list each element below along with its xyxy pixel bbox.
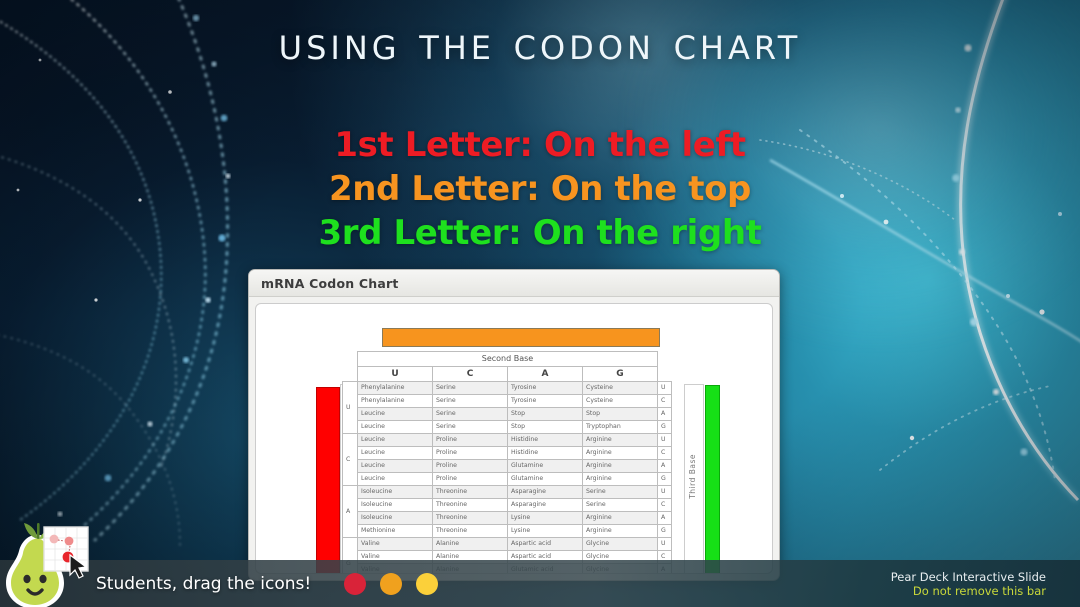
amino-acid-cell: Tyrosine <box>508 382 583 395</box>
amino-acid-cell: Threonine <box>433 512 508 525</box>
codon-table: Second Base U C A G UPhenylalanineSerin <box>342 351 672 574</box>
amino-acid-cell: Serine <box>433 395 508 408</box>
table-row: LeucineSerineStopStopA <box>343 408 672 421</box>
peardeck-bar: Students, drag the icons! Pear Deck Inte… <box>0 560 1080 607</box>
first-base-highlight-bar[interactable] <box>316 387 340 574</box>
amino-acid-cell: Leucine <box>358 447 433 460</box>
amino-acid-cell: Proline <box>433 473 508 486</box>
amino-acid-cell: Isoleucine <box>358 499 433 512</box>
table-row: LeucineProlineGlutamineArginineG <box>343 473 672 486</box>
amino-acid-cell: Leucine <box>358 408 433 421</box>
amino-acid-cell: Proline <box>433 460 508 473</box>
table-row: IsoleucineThreonineAsparagineSerineC <box>343 499 672 512</box>
instruction-list: 1st Letter: On the left 2nd Letter: On t… <box>0 128 1080 260</box>
amino-acid-cell: Lysine <box>508 512 583 525</box>
amino-acid-cell: Arginine <box>583 525 658 538</box>
amino-acid-cell: Cysteine <box>583 395 658 408</box>
draggable-icon-red[interactable] <box>344 573 366 595</box>
third-base-letter: U <box>658 486 672 499</box>
amino-acid-cell: Glutamine <box>508 460 583 473</box>
amino-acid-cell: Serine <box>433 421 508 434</box>
amino-acid-cell: Leucine <box>358 473 433 486</box>
draggable-icon-yellow[interactable] <box>416 573 438 595</box>
peardeck-branding: Pear Deck Interactive Slide Do not remov… <box>891 569 1046 597</box>
amino-acid-cell: Aspartic acid <box>508 538 583 551</box>
amino-acid-cell: Leucine <box>358 434 433 447</box>
table-row: LeucineProlineHistidineArginineC <box>343 447 672 460</box>
amino-acid-cell: Phenylalanine <box>358 395 433 408</box>
first-base-letter: U <box>343 382 358 434</box>
peardeck-brand-line-1: Pear Deck Interactive Slide <box>891 569 1046 583</box>
peardeck-prompt: Students, drag the icons! <box>96 574 311 594</box>
amino-acid-cell: Alanine <box>433 538 508 551</box>
amino-acid-cell: Stop <box>508 408 583 421</box>
table-header-row-letters: U C A G <box>343 367 672 382</box>
third-base-letter: C <box>658 447 672 460</box>
amino-acid-cell: Stop <box>583 408 658 421</box>
third-base-letter: G <box>658 473 672 486</box>
amino-acid-cell: Asparagine <box>508 499 583 512</box>
column-header-U: U <box>358 367 433 382</box>
amino-acid-cell: Arginine <box>583 434 658 447</box>
table-row: MethionineThreonineLysineArginineG <box>343 525 672 538</box>
amino-acid-cell: Threonine <box>433 499 508 512</box>
codon-chart-window: mRNA Codon Chart First Base Third Base S… <box>248 269 780 581</box>
amino-acid-cell: Arginine <box>583 473 658 486</box>
table-row: GValineAlanineAspartic acidGlycineU <box>343 538 672 551</box>
second-base-highlight-bar[interactable] <box>382 328 660 347</box>
amino-acid-cell: Serine <box>433 408 508 421</box>
instruction-line-1: 1st Letter: On the left <box>0 128 1080 162</box>
table-row: AIsoleucineThreonineAsparagineSerineU <box>343 486 672 499</box>
instruction-line-2: 2nd Letter: On the top <box>0 172 1080 206</box>
amino-acid-cell: Valine <box>358 538 433 551</box>
amino-acid-cell: Proline <box>433 434 508 447</box>
amino-acid-cell: Phenylalanine <box>358 382 433 395</box>
third-base-letter: U <box>658 434 672 447</box>
drag-icons-card <box>44 527 88 578</box>
column-header-G: G <box>583 367 658 382</box>
third-base-letter: C <box>658 395 672 408</box>
amino-acid-cell: Asparagine <box>508 486 583 499</box>
column-header-A: A <box>508 367 583 382</box>
table-row: LeucineProlineGlutamineArginineA <box>343 460 672 473</box>
third-base-letter: A <box>658 512 672 525</box>
amino-acid-cell: Leucine <box>358 460 433 473</box>
third-base-letter: A <box>658 408 672 421</box>
third-base-letter: A <box>658 460 672 473</box>
third-base-letter: C <box>658 499 672 512</box>
amino-acid-cell: Arginine <box>583 460 658 473</box>
table-row: UPhenylalanineSerineTyrosineCysteineU <box>343 382 672 395</box>
amino-acid-cell: Cysteine <box>583 382 658 395</box>
peardeck-brand-line-2: Do not remove this bar <box>891 584 1046 598</box>
amino-acid-cell: Histidine <box>508 434 583 447</box>
slide-canvas: Using the Codon Chart 1st Letter: On the… <box>0 0 1080 607</box>
amino-acid-cell: Threonine <box>433 486 508 499</box>
codon-chart-body: First Base Third Base Second Base U C <box>255 303 773 574</box>
peardeck-pear-logo <box>2 515 94 607</box>
amino-acid-cell: Lysine <box>508 525 583 538</box>
page-title: Using the Codon Chart <box>0 16 1080 70</box>
amino-acid-cell: Methionine <box>358 525 433 538</box>
table-row: IsoleucineThreonineLysineArginineA <box>343 512 672 525</box>
amino-acid-cell: Arginine <box>583 512 658 525</box>
amino-acid-cell: Leucine <box>358 421 433 434</box>
first-base-letter: C <box>343 434 358 486</box>
amino-acid-cell: Glutamine <box>508 473 583 486</box>
third-base-axis-label: Third Base <box>688 454 697 499</box>
instruction-line-3: 3rd Letter: On the right <box>0 216 1080 250</box>
amino-acid-cell: Stop <box>508 421 583 434</box>
draggable-icon-group <box>344 573 438 595</box>
codon-chart-title: mRNA Codon Chart <box>261 276 399 291</box>
table-row: CLeucineProlineHistidineArginineU <box>343 434 672 447</box>
third-base-letter: G <box>658 421 672 434</box>
third-base-letter: G <box>658 525 672 538</box>
column-header-C: C <box>433 367 508 382</box>
amino-acid-cell: Threonine <box>433 525 508 538</box>
amino-acid-cell: Serine <box>583 499 658 512</box>
amino-acid-cell: Tryptophan <box>583 421 658 434</box>
third-base-letter: U <box>658 538 672 551</box>
second-base-header: Second Base <box>358 352 658 367</box>
third-base-highlight-bar[interactable] <box>705 385 720 574</box>
table-header-row-secondbase: Second Base <box>343 352 672 367</box>
amino-acid-cell: Serine <box>583 486 658 499</box>
table-row: LeucineSerineStopTryptophanG <box>343 421 672 434</box>
draggable-icon-orange[interactable] <box>380 573 402 595</box>
amino-acid-cell: Tyrosine <box>508 395 583 408</box>
first-base-letter: A <box>343 486 358 538</box>
amino-acid-cell: Proline <box>433 447 508 460</box>
amino-acid-cell: Glycine <box>583 538 658 551</box>
amino-acid-cell: Isoleucine <box>358 512 433 525</box>
amino-acid-cell: Histidine <box>508 447 583 460</box>
table-row: PhenylalanineSerineTyrosineCysteineC <box>343 395 672 408</box>
third-base-letter: U <box>658 382 672 395</box>
amino-acid-cell: Arginine <box>583 447 658 460</box>
codon-chart-titlebar: mRNA Codon Chart <box>249 270 779 297</box>
amino-acid-cell: Serine <box>433 382 508 395</box>
amino-acid-cell: Isoleucine <box>358 486 433 499</box>
